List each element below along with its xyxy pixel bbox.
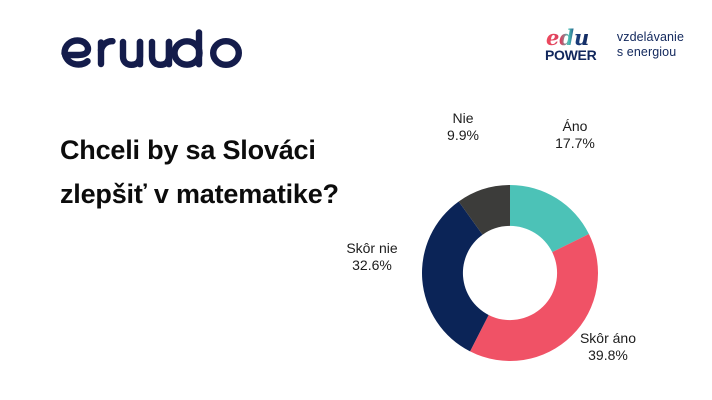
edupower-tagline: vzdelávanie s energiou bbox=[617, 30, 684, 60]
erudo-logo bbox=[60, 28, 260, 72]
slice-label-nie: Nie 9.9% bbox=[426, 110, 500, 144]
slice-label-skor-ano-name: Skôr áno bbox=[560, 330, 656, 347]
slice-label-ano-value: 17.7% bbox=[538, 135, 612, 152]
slice-label-skor-nie: Skôr nie 32.6% bbox=[330, 240, 414, 274]
donut-chart: Nie 9.9% Áno 17.7% Skôr nie 32.6% Skôr á… bbox=[330, 95, 705, 385]
edupower-logo: edu POWER vzdelávanie s energiou bbox=[545, 26, 684, 64]
slice-label-skor-nie-value: 32.6% bbox=[330, 257, 414, 274]
erudo-wordmark-icon bbox=[60, 28, 260, 72]
edupower-power-text: POWER bbox=[545, 47, 597, 63]
edupower-tagline-line1: vzdelávanie bbox=[617, 30, 684, 45]
slice-label-skor-ano: Skôr áno 39.8% bbox=[560, 330, 656, 364]
edupower-tagline-line2: s energiou bbox=[617, 45, 684, 60]
slice-label-nie-value: 9.9% bbox=[426, 127, 500, 144]
edupower-mark-icon: edu POWER bbox=[545, 26, 608, 64]
slice-label-skor-nie-name: Skôr nie bbox=[330, 240, 414, 257]
slice-label-ano: Áno 17.7% bbox=[538, 118, 612, 152]
slice-label-nie-name: Nie bbox=[426, 110, 500, 127]
slice-label-skor-ano-value: 39.8% bbox=[560, 347, 656, 364]
slice-label-ano-name: Áno bbox=[538, 118, 612, 135]
